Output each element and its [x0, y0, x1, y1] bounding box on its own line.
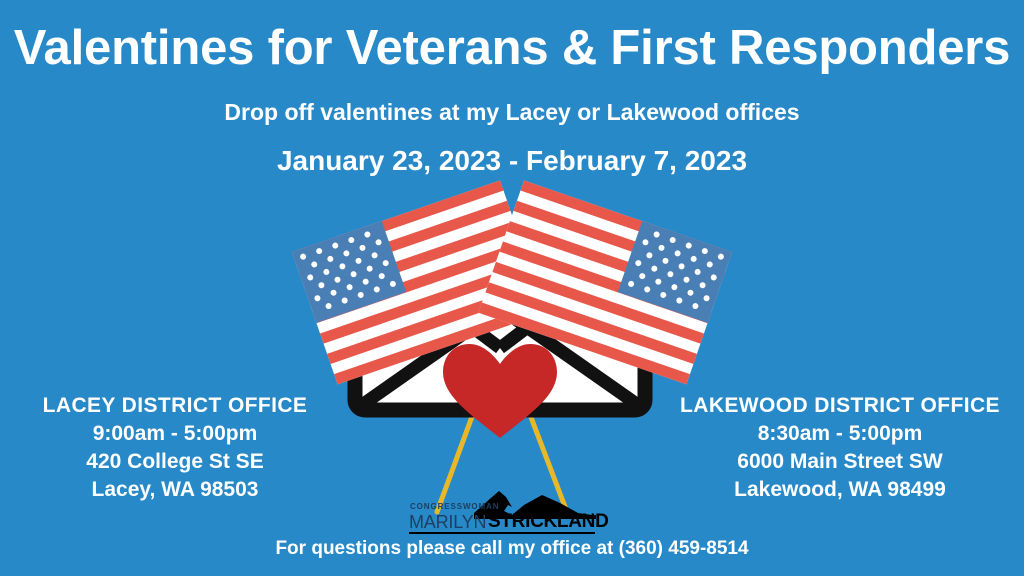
office-block-lakewood: LAKEWOOD DISTRICT OFFICE 8:30am - 5:00pm…: [672, 392, 1008, 505]
flag-pole-finials: [442, 198, 558, 218]
office-city-state-zip: Lacey, WA 98503: [22, 476, 328, 504]
logo-last-name: STRICKLAND: [488, 512, 609, 531]
office-name: LACEY DISTRICT OFFICE: [22, 392, 328, 420]
office-city-state-zip: Lakewood, WA 98499: [672, 476, 1008, 504]
poster-canvas: Valentines for Veterans & First Responde…: [0, 0, 1024, 576]
american-flag-left: [292, 180, 546, 384]
congresswoman-logo: CONGRESSWOMAN MARILYN STRICKLAND: [396, 489, 596, 535]
heart-icon: [443, 344, 557, 438]
logo-eyebrow: CONGRESSWOMAN: [410, 503, 499, 511]
office-hours: 8:30am - 5:00pm: [672, 420, 1008, 448]
office-hours: 9:00am - 5:00pm: [22, 420, 328, 448]
poster-subtitle: Drop off valentines at my Lacey or Lakew…: [0, 99, 1024, 127]
office-street: 6000 Main Street SW: [672, 448, 1008, 476]
office-block-lacey: LACEY DISTRICT OFFICE 9:00am - 5:00pm 42…: [22, 392, 328, 505]
flag-poles: [437, 212, 567, 512]
page-title: Valentines for Veterans & First Responde…: [0, 22, 1024, 75]
logo-first-name: MARILYN: [409, 513, 486, 531]
envelope: [352, 236, 648, 412]
office-street: 420 College St SE: [22, 448, 328, 476]
contact-footer: For questions please call my office at (…: [0, 538, 1024, 560]
date-range: January 23, 2023 - February 7, 2023: [0, 144, 1024, 178]
logo-underline: [409, 532, 595, 534]
office-name: LAKEWOOD DISTRICT OFFICE: [672, 392, 1008, 420]
american-flag-right: [478, 180, 732, 384]
